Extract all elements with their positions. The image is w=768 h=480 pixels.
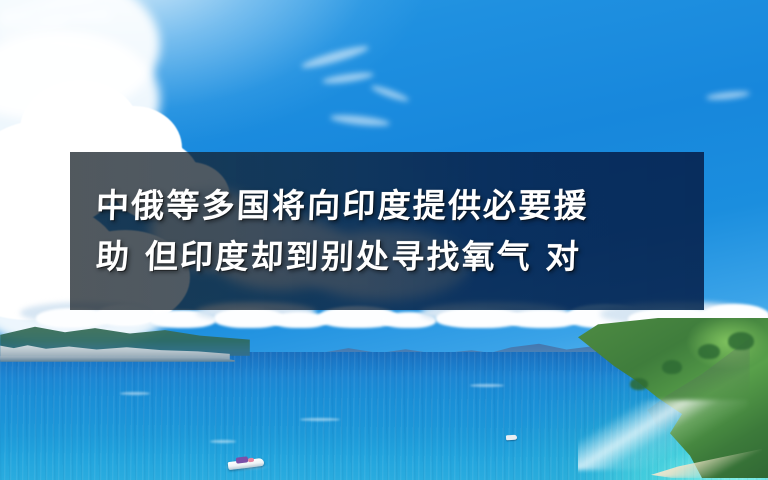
boat <box>228 455 264 468</box>
headline-text-block: 中俄等多国将向印度提供必要援 助 但印度却到别处寻找氧气 对 <box>70 152 704 310</box>
tree-cluster <box>728 332 754 350</box>
headline-line-1: 中俄等多国将向印度提供必要援 <box>95 189 678 222</box>
water-glint <box>470 384 504 387</box>
tree-cluster <box>630 378 648 390</box>
distant-boat <box>506 435 517 441</box>
headline-line-2: 助 但印度却到别处寻找氧气 对 <box>95 240 678 273</box>
tree-cluster <box>662 360 682 374</box>
tree-cluster <box>698 344 720 359</box>
news-banner-image: 中俄等多国将向印度提供必要援 助 但印度却到别处寻找氧气 对 <box>0 0 768 480</box>
green-headland <box>578 318 768 480</box>
water-glint <box>300 418 340 421</box>
surf-line <box>578 400 748 470</box>
water-glint <box>120 392 150 395</box>
water-glint <box>210 440 236 443</box>
